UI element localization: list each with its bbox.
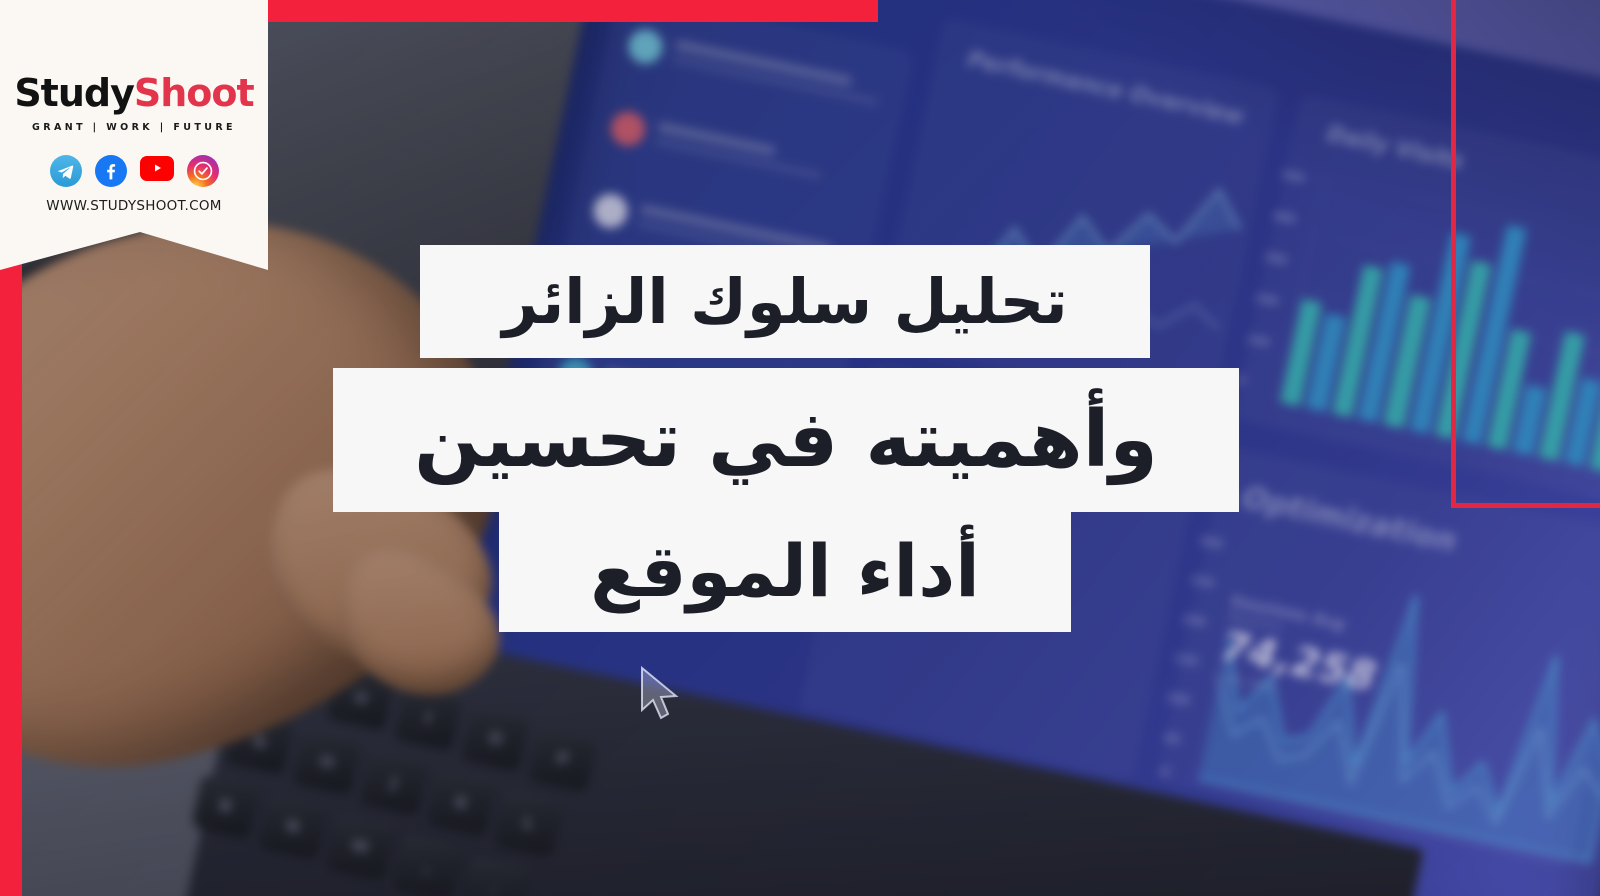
headline-line-2: وأهميته في تحسين [333, 368, 1239, 512]
instagram-icon[interactable] [187, 155, 219, 187]
banner-canvas: Performance Overview Daily Visits 500 40… [0, 0, 1600, 896]
decor-bar-top [265, 0, 878, 22]
headline-line-1: تحليل سلوك الزائر [420, 245, 1150, 358]
telegram-icon[interactable] [50, 155, 82, 187]
brand-panel: StudyShoot GRANT | WORK | FUTURE [0, 0, 268, 270]
youtube-icon[interactable] [140, 155, 174, 181]
logo-text-shoot: Shoot [134, 71, 254, 115]
website-url[interactable]: WWW.STUDYSHOOT.COM [0, 198, 268, 214]
social-links [0, 155, 268, 187]
facebook-icon[interactable] [95, 155, 127, 187]
decor-bar-left [0, 260, 22, 896]
logo: StudyShoot [0, 74, 268, 112]
logo-text-study: Study [14, 71, 134, 115]
mouse-arrow-cursor [640, 666, 684, 724]
headline-line-3: أداء الموقع [499, 510, 1071, 632]
decor-frame-vertical [1451, 0, 1456, 508]
logo-tagline: GRANT | WORK | FUTURE [0, 122, 268, 133]
decor-frame-horizontal [1451, 503, 1600, 508]
